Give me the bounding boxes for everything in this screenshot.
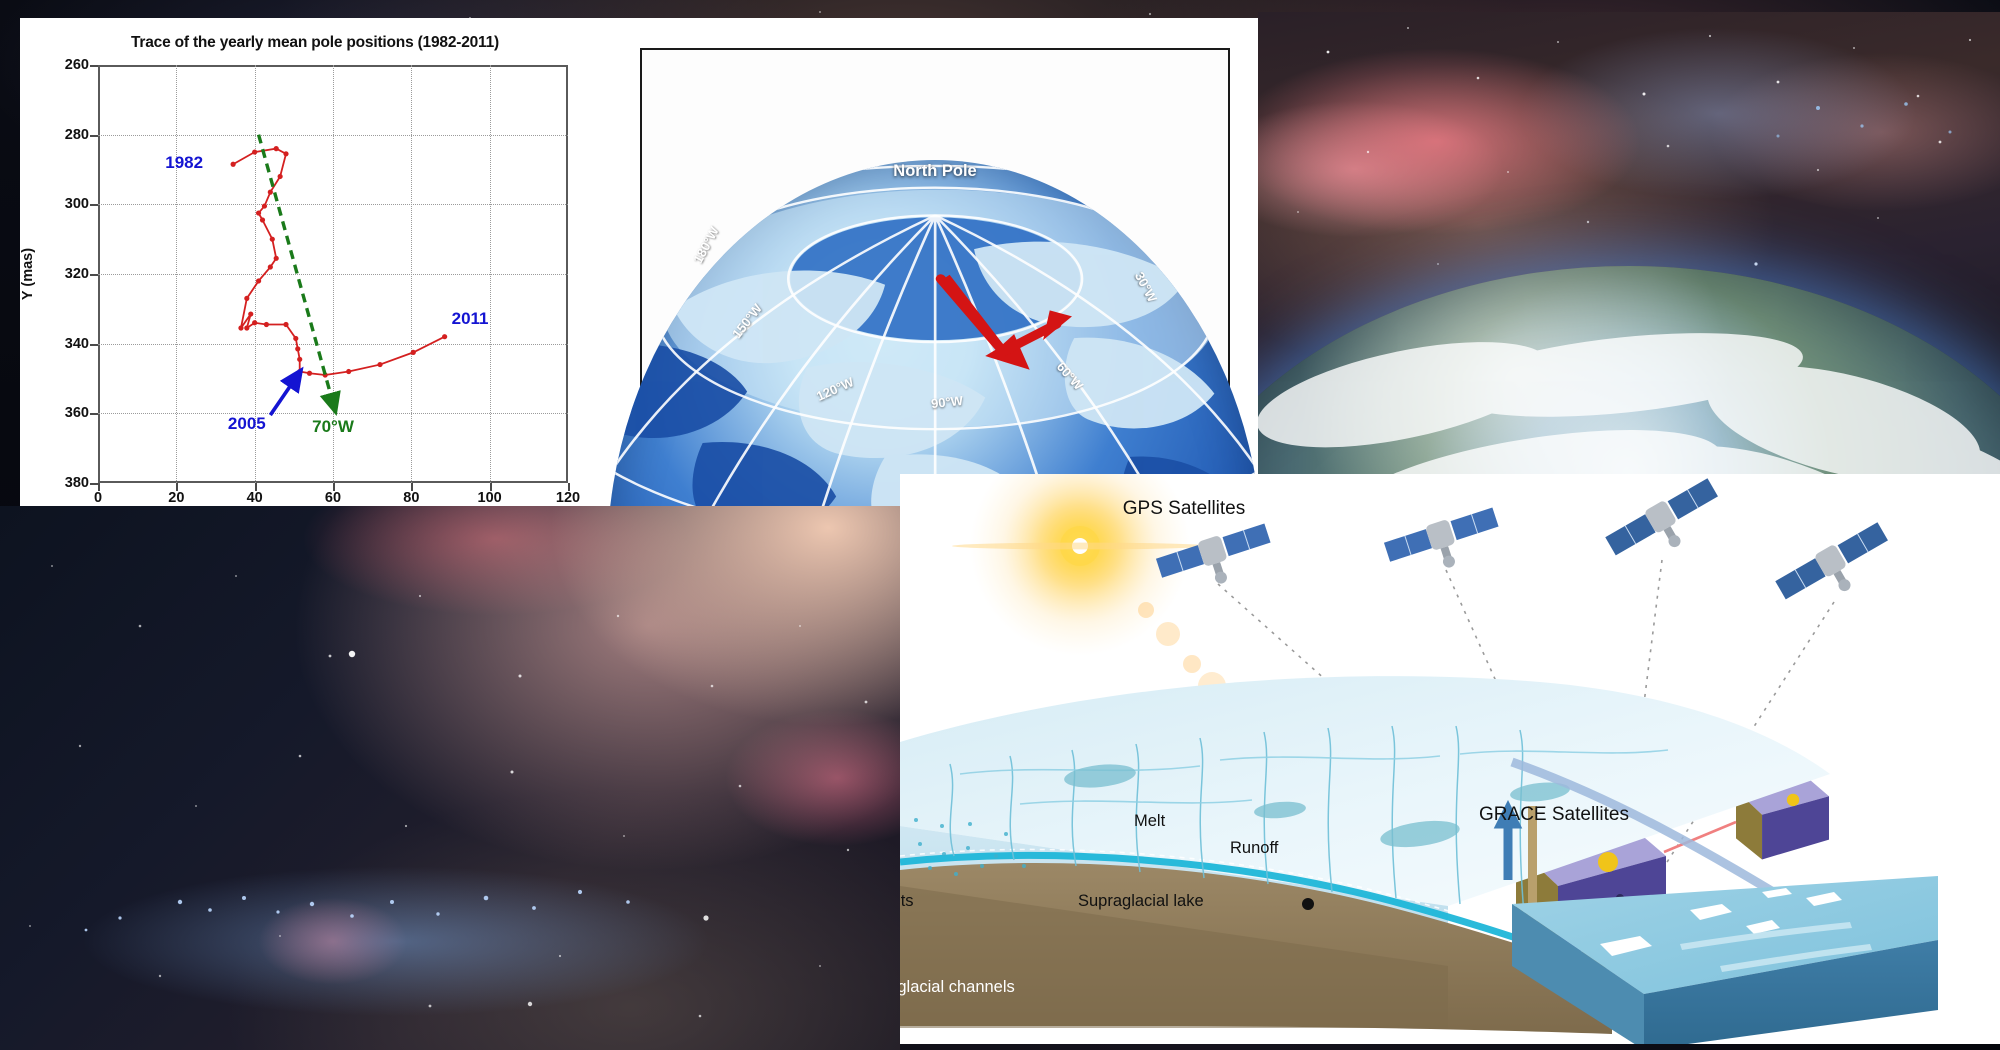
- data-point: [442, 334, 447, 339]
- y-tick: [90, 204, 98, 206]
- plot-area: 260280300320340360380020406080100120 198…: [98, 65, 568, 483]
- data-point: [274, 146, 279, 151]
- ice-sheet-diagram: GPS Satellites GRACE Satellites Melt Run…: [900, 474, 2000, 1044]
- data-point: [231, 162, 236, 167]
- data-point: [283, 151, 288, 156]
- data-point: [268, 264, 273, 269]
- data-point: [297, 357, 302, 362]
- y-tick-label: 320: [65, 266, 89, 282]
- data-point: [262, 203, 267, 208]
- chart-annotation-2005: 2005: [228, 414, 266, 434]
- y-tick-label: 380: [65, 475, 89, 491]
- x-tick-label: 20: [168, 490, 184, 506]
- meltwater-conduits-label: Meltwater conduits: [900, 892, 914, 911]
- data-point: [307, 371, 312, 376]
- bedrock-marker-dot: [1302, 898, 1314, 910]
- chart-panel: Trace of the yearly mean pole positions …: [20, 18, 1260, 506]
- north-pole-label: North Pole: [893, 162, 976, 181]
- y-tick-label: 340: [65, 336, 89, 352]
- subglacial-channels-label: Subglacial channels: [900, 978, 1015, 997]
- data-point: [238, 325, 243, 330]
- data-point: [283, 322, 288, 327]
- data-point: [252, 149, 257, 154]
- galaxy-stars-and-dust: [0, 506, 900, 1050]
- runoff-label: Runoff: [1230, 839, 1278, 858]
- y-tick: [90, 135, 98, 137]
- gps-satellites-label: GPS Satellites: [1123, 498, 1246, 520]
- y-tick: [90, 483, 98, 485]
- earth-clouds-and-land: [1258, 266, 2000, 474]
- data-point: [377, 362, 382, 367]
- chart-annotation-70w: 70°W: [312, 417, 354, 437]
- data-point: [252, 320, 257, 325]
- ice-sheet-graphic: [900, 474, 2000, 1044]
- chart-annotation-1982: 1982: [165, 153, 203, 173]
- earth-sphere: [1258, 266, 2000, 474]
- data-point: [260, 217, 265, 222]
- data-point: [268, 190, 273, 195]
- data-point: [295, 346, 300, 351]
- supraglacial-lake-label: Supraglacial lake: [1078, 892, 1204, 911]
- gps-satellite-icon: [1155, 476, 1899, 620]
- x-tick-label: 80: [403, 490, 419, 506]
- x-tick-label: 40: [247, 490, 263, 506]
- data-point: [278, 174, 283, 179]
- y-tick-label: 360: [65, 405, 89, 421]
- north-pole-globe: North Pole 180°W150°W120°W90°W60°W30°W: [640, 48, 1230, 476]
- grace-satellites-label: GRACE Satellites: [1479, 804, 1629, 826]
- series-line: [233, 149, 445, 375]
- y-tick: [90, 65, 98, 67]
- x-tick-label: 0: [94, 490, 102, 506]
- data-point: [411, 350, 416, 355]
- data-point: [256, 210, 261, 215]
- meridian-label-90W: 90°W: [930, 393, 963, 411]
- y-tick: [90, 274, 98, 276]
- y-tick-label: 260: [65, 57, 89, 73]
- data-point: [244, 325, 249, 330]
- data-point: [346, 369, 351, 374]
- data-point: [244, 296, 249, 301]
- data-point: [264, 322, 269, 327]
- y-tick: [90, 413, 98, 415]
- data-point: [248, 311, 253, 316]
- y-axis-title: Y (mas): [20, 248, 36, 300]
- melt-label: Melt: [1134, 812, 1165, 831]
- data-point: [270, 237, 275, 242]
- data-point: [293, 336, 298, 341]
- data-point: [256, 278, 261, 283]
- x-tick-label: 60: [325, 490, 341, 506]
- data-point: [274, 256, 279, 261]
- x-tick-label: 120: [556, 490, 580, 506]
- pole-trace-chart: Trace of the yearly mean pole positions …: [20, 18, 580, 506]
- chart-title: Trace of the yearly mean pole positions …: [60, 34, 570, 52]
- data-point: [297, 369, 302, 374]
- y-tick: [90, 344, 98, 346]
- chart-annotation-2011: 2011: [452, 309, 489, 329]
- year-2005-pointer-arrow: [270, 379, 295, 416]
- earth-from-space-photo: [1258, 12, 2000, 474]
- globe-graticule-and-landmass: [607, 160, 1260, 506]
- y-tick-label: 280: [65, 127, 89, 143]
- x-tick-label: 100: [478, 490, 502, 506]
- y-tick-label: 300: [65, 196, 89, 212]
- galaxy-photo: [0, 506, 900, 1050]
- globe-sphere: [607, 160, 1260, 506]
